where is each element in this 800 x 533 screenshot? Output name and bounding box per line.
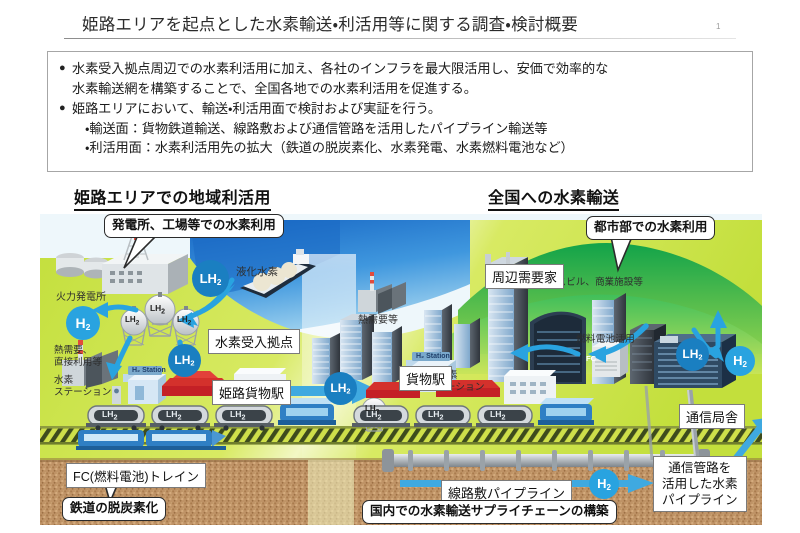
annotation-heat-demand-1: 熱需要、 <box>54 345 92 357</box>
wagon-label: LH2 <box>102 409 117 422</box>
bullet-sub-line: ・輸送面：貨物鉄道輸送、線路敷および通信管路を活用したパイプライン輸送等 <box>85 119 574 139</box>
annotation-heat-demand-right: 熱需要等 <box>358 315 398 327</box>
wagon-label: LH2 <box>230 409 245 422</box>
h2-station-sign-left: H₂ Station <box>132 367 166 376</box>
section-heading-nationwide: 全国への水素輸送 <box>488 184 619 211</box>
lh2-bubble-text: LH2 <box>174 353 194 368</box>
bullet-item: ● 水素受入拠点周辺での水素利活用に加え、各社のインフラを最大限活用し、安価で効… <box>59 59 746 98</box>
summary-bullet-list: ● 水素受入拠点周辺での水素利活用に加え、各社のインフラを最大限活用し、安価で効… <box>59 59 746 159</box>
bullet-line: 水素受入拠点周辺での水素利活用に加え、各社のインフラを最大限活用し、安価で効率的… <box>72 59 608 79</box>
label-hydrogen-receiving-base: 水素受入拠点 <box>208 329 300 354</box>
header-divider <box>64 38 736 39</box>
tank-label: LH2 <box>125 315 139 328</box>
concept-illustration: LH2 H2 LH2 LH2 LH2 H2 H2 LH2 LH2 LH2 LH2… <box>40 214 762 525</box>
lh2-bubble-text: LH2 <box>682 347 702 362</box>
h2-bubble-text: H2 <box>597 476 611 492</box>
annotation-liquefied-hydrogen: 液化水素 <box>236 266 278 279</box>
annotation-fuel-cell-use: 燃料電池活用 <box>576 334 635 346</box>
slide-root: 姫路エリアを起点とした水素輸送・利活用等に関する調査・検討概要 1 ● 水素受入… <box>0 0 800 533</box>
wagon-label: LH2 <box>428 409 443 422</box>
bullet-sub-line: ・利活用面：水素利活用先の拡大（鉄道の脱炭素化、水素発電、水素燃料電池など） <box>85 138 574 158</box>
h2-bubble-right: H2 <box>725 346 755 376</box>
h2-bubble-pipeline: H2 <box>589 469 619 499</box>
wagon-label: LH2 <box>490 409 505 422</box>
annotation-heat-demand-2: 直接利用等 <box>54 357 102 369</box>
wagon-label: LH2 <box>166 409 181 422</box>
annotation-hydrogen-station-left-1: 水素 <box>54 375 73 387</box>
h2-bubble-text: H2 <box>76 315 91 332</box>
lh2-bubble-sea: LH2 <box>192 260 229 297</box>
h2-bubble-text: H2 <box>733 353 747 369</box>
callout-power-plant-use: 発電所、工場等での水素利用 <box>104 214 284 238</box>
bullet-text: 姫路エリアにおいて、輸送・利活用面で検討および実証を行う。 ・輸送面：貨物鉄道輸… <box>72 99 574 158</box>
page-title: 姫路エリアを起点とした水素輸送・利活用等に関する調査・検討概要 <box>82 11 578 35</box>
label-himeji-freight-station: 姫路貨物駅 <box>212 380 291 405</box>
callout-telecom-pipeline: 通信管路を 活用した水素 パイプライン <box>653 456 747 512</box>
lh2-bubble-right: LH2 <box>676 338 709 371</box>
slide-header: 姫路エリアを起点とした水素輸送・利活用等に関する調査・検討概要 1 <box>0 0 800 46</box>
bullet-marker: ● <box>59 59 72 78</box>
section-heading-local-use: 姫路エリアでの地域利活用 <box>74 184 271 211</box>
label-telecom-station-building: 通信局舎 <box>679 404 745 429</box>
callout-urban-use: 都市部での水素利用 <box>586 216 715 240</box>
annotation-hydrogen-station-left-2: ステーション <box>54 387 111 399</box>
bullet-line: 姫路エリアにおいて、輸送・利活用面で検討および実証を行う。 <box>72 99 574 119</box>
bullet-item: ● 姫路エリアにおいて、輸送・利活用面で検討および実証を行う。 ・輸送面：貨物鉄… <box>59 99 746 158</box>
label-freight-station: 貨物駅 <box>399 366 452 391</box>
label-fc-train: FC(燃料電池)トレイン <box>66 463 206 488</box>
tank-label: LH2 <box>177 315 191 328</box>
lh2-bubble-text: LH2 <box>330 381 350 396</box>
lh2-bubble-mid: LH2 <box>324 372 357 405</box>
bullet-line: 水素輸送網を構築することで、全国各地での水素利活用を促進する。 <box>72 79 608 99</box>
tank-label: LH2 <box>150 303 165 317</box>
callout-domestic-supply-chain: 国内での水素輸送サプライチェーンの構築 <box>362 500 617 524</box>
h2-bubble-left: H2 <box>66 306 100 340</box>
annotation-thermal-power-plant: 火力発電所 <box>56 292 106 304</box>
page-number: 1 <box>716 22 720 31</box>
bullet-text: 水素受入拠点周辺での水素利活用に加え、各社のインフラを最大限活用し、安価で効率的… <box>72 59 608 98</box>
bullet-marker: ● <box>59 99 72 118</box>
wagon-label: LH2 <box>366 409 381 422</box>
lh2-bubble-station: LH2 <box>168 344 201 377</box>
summary-box: ● 水素受入拠点周辺での水素利活用に加え、各社のインフラを最大限活用し、安価で効… <box>47 51 753 172</box>
h2-station-sign-right: H₂ Station <box>416 353 450 362</box>
fc-unit-label: FC <box>586 354 596 363</box>
callout-rail-decarbonization: 鉄道の脱炭素化 <box>62 497 166 521</box>
label-surrounding-demand: 周辺需要家 <box>485 264 564 289</box>
lh2-bubble-text: LH2 <box>200 271 222 287</box>
